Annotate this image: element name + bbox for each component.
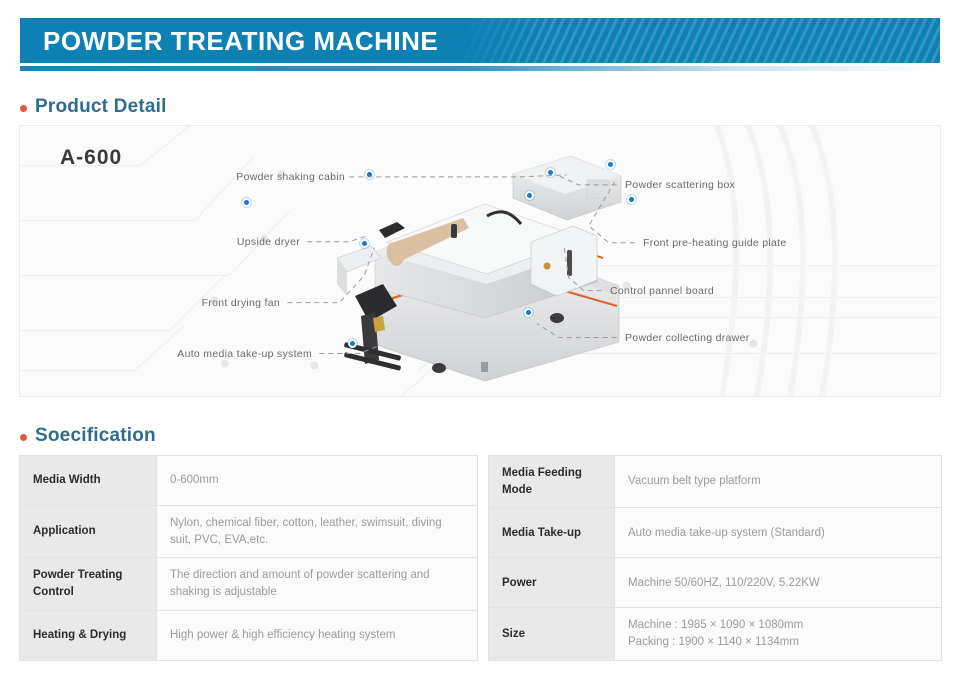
table-row: Application Nylon, chemical fiber, cotto… — [20, 506, 478, 558]
section-heading-specification-label: Soecification — [35, 425, 156, 447]
table-row: Powder Treating Control The direction an… — [20, 558, 478, 610]
callout-label-control-pannel-board: Control pannel board — [610, 285, 714, 297]
spec-key: Power — [489, 558, 615, 608]
callout-marker-dot — [546, 168, 555, 177]
callout-marker-dot — [365, 170, 374, 179]
table-row: Media Width 0-600mm — [20, 456, 478, 506]
section-heading-product-detail-label: Product Detail — [35, 96, 167, 118]
callout-label-front-drying-fan: Front drying fan — [80, 297, 280, 309]
spec-key: Media Width — [20, 456, 157, 506]
callout-marker-dot — [348, 339, 357, 348]
product-image-panel: A-600 — [19, 125, 941, 397]
callout-marker-dot — [525, 191, 534, 200]
section-heading-specification: Soecification — [20, 425, 156, 447]
callout-marker-dot — [627, 195, 636, 204]
spec-value: Vacuum belt type platform — [615, 456, 942, 508]
table-row: Power Machine 50/60HZ, 110/220V, 5.22KW — [489, 558, 942, 608]
callout-label-powder-shaking-cabin: Powder shaking cabin — [110, 171, 345, 183]
table-row: Media Feeding Mode Vacuum belt type plat… — [489, 456, 942, 508]
spec-value: Machine : 1985 × 1090 × 1080mm Packing :… — [615, 608, 942, 660]
spec-key: Size — [489, 608, 615, 660]
product-spec-page: POWDER TREATING MACHINE Product Detail — [0, 0, 960, 694]
page-title: POWDER TREATING MACHINE — [43, 26, 438, 57]
banner-stripe-pattern — [460, 18, 940, 63]
page-banner: POWDER TREATING MACHINE — [20, 18, 940, 63]
callout-marker-dot — [524, 308, 533, 317]
specification-table-right: Media Feeding Mode Vacuum belt type plat… — [488, 455, 942, 661]
spec-key: Heating & Drying — [20, 610, 157, 660]
spec-value: 0-600mm — [157, 456, 478, 506]
section-heading-product-detail: Product Detail — [20, 96, 167, 118]
callout-marker-dot — [606, 160, 615, 169]
spec-value: The direction and amount of powder scatt… — [157, 558, 478, 610]
callout-label-front-pre-heating-guide-plate: Front pre-heating guide plate — [643, 237, 787, 249]
bullet-dot-icon — [20, 434, 27, 441]
banner-underline-bar — [20, 66, 940, 71]
spec-key: Media Take-up — [489, 508, 615, 558]
spec-key: Powder Treating Control — [20, 558, 157, 610]
spec-value: Nylon, chemical fiber, cotton, leather, … — [157, 506, 478, 558]
product-model-name: A-600 — [60, 146, 122, 170]
specification-table-left: Media Width 0-600mm Application Nylon, c… — [19, 455, 478, 661]
spec-key: Media Feeding Mode — [489, 456, 615, 508]
callout-marker-dot — [242, 198, 251, 207]
table-row: Media Take-up Auto media take-up system … — [489, 508, 942, 558]
machine-illustration — [335, 146, 635, 381]
table-row: Heating & Drying High power & high effic… — [20, 610, 478, 660]
callout-label-powder-scattering-box: Powder scattering box — [625, 179, 735, 191]
bullet-dot-icon — [20, 105, 27, 112]
callout-label-upside-dryer: Upside dryer — [110, 236, 300, 248]
spec-value: High power & high efficiency heating sys… — [157, 610, 478, 660]
callout-marker-dot — [360, 239, 369, 248]
callout-label-auto-media-take-up-system: Auto media take-up system — [60, 348, 312, 360]
table-row: Size Machine : 1985 × 1090 × 1080mm Pack… — [489, 608, 942, 660]
spec-key: Application — [20, 506, 157, 558]
callout-label-powder-collecting-drawer: Powder collecting drawer — [625, 332, 750, 344]
spec-value: Auto media take-up system (Standard) — [615, 508, 942, 558]
spec-value: Machine 50/60HZ, 110/220V, 5.22KW — [615, 558, 942, 608]
